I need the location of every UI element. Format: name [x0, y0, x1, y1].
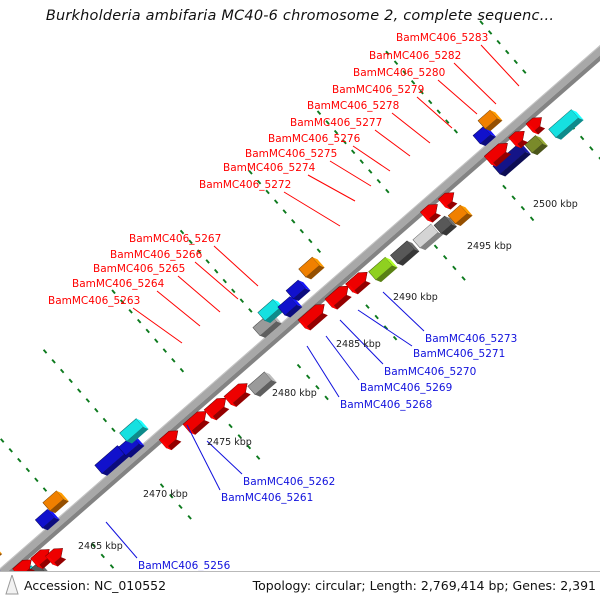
gene-label-reverse[interactable]: BamMC406_5268	[340, 400, 432, 411]
topology-text: Topology: circular; Length: 2,769,414 bp…	[253, 578, 596, 593]
gene-feature[interactable]	[390, 239, 419, 267]
ruler-tick-label: 2475 kbp	[207, 437, 252, 448]
ruler-tick-label: 2495 kbp	[467, 241, 512, 252]
accession-text: Accession: NC_010552	[24, 578, 166, 593]
ruler-tick-label: 2470 kbp	[143, 489, 188, 500]
ruler-tick-label: 2485 kbp	[336, 339, 381, 350]
gene-label-forward[interactable]: BamMC406_5272	[199, 180, 291, 191]
gene-label-reverse[interactable]: BamMC406_5261	[221, 493, 313, 504]
gene-label-reverse[interactable]: BamMC406_5271	[413, 349, 505, 360]
genome-map-viewer: Burkholderia ambifaria MC40-6 chromosome…	[0, 0, 600, 600]
gene-label-forward[interactable]: BamMC406_5264	[72, 279, 164, 290]
gene-feature[interactable]	[120, 417, 149, 445]
status-bar: Accession: NC_010552 Topology: circular;…	[0, 571, 600, 600]
gene-feature[interactable]	[299, 255, 325, 281]
gene-feature[interactable]	[549, 108, 584, 141]
gene-feature[interactable]	[0, 542, 2, 568]
gene-label-forward[interactable]: BamMC406_5274	[223, 163, 315, 174]
gene-label-forward[interactable]: BamMC406_5263	[48, 296, 140, 307]
gene-label-reverse[interactable]: BamMC406_5269	[360, 383, 452, 394]
ruler-tick-label: 2480 kbp	[272, 388, 317, 399]
ruler-tick-label: 2465 kbp	[78, 541, 123, 552]
gene-feature[interactable]	[369, 256, 398, 284]
ruler-tick-label: 2500 kbp	[533, 199, 578, 210]
gene-label-forward[interactable]: BamMC406_5277	[290, 118, 382, 129]
gene-feature[interactable]	[45, 544, 69, 568]
gene-label-forward[interactable]: BamMC406_5275	[245, 149, 337, 160]
ruler-tick-label: 2490 kbp	[393, 292, 438, 303]
gene-label-forward[interactable]: BamMC406_5265	[93, 264, 185, 275]
gene-label-forward[interactable]: BamMC406_5280	[353, 68, 445, 79]
gene-label-forward[interactable]: BamMC406_5283	[396, 33, 488, 44]
gene-label-forward[interactable]: BamMC406_5276	[268, 134, 360, 145]
gene-label-forward[interactable]: BamMC406_5266	[110, 250, 202, 261]
page-title: Burkholderia ambifaria MC40-6 chromosome…	[0, 8, 600, 24]
gene-label-forward[interactable]: BamMC406_5278	[307, 101, 399, 112]
gene-label-forward[interactable]: BamMC406_5267	[129, 234, 221, 245]
gene-label-forward[interactable]: BamMC406_5282	[369, 51, 461, 62]
pointer-marker-icon	[4, 575, 20, 595]
gene-label-reverse[interactable]: BamMC406_5262	[243, 477, 335, 488]
gene-label-forward[interactable]: BamMC406_5279	[332, 85, 424, 96]
gene-label-reverse[interactable]: BamMC406_5273	[425, 334, 517, 345]
gene-label-reverse[interactable]: BamMC406_5270	[384, 367, 476, 378]
